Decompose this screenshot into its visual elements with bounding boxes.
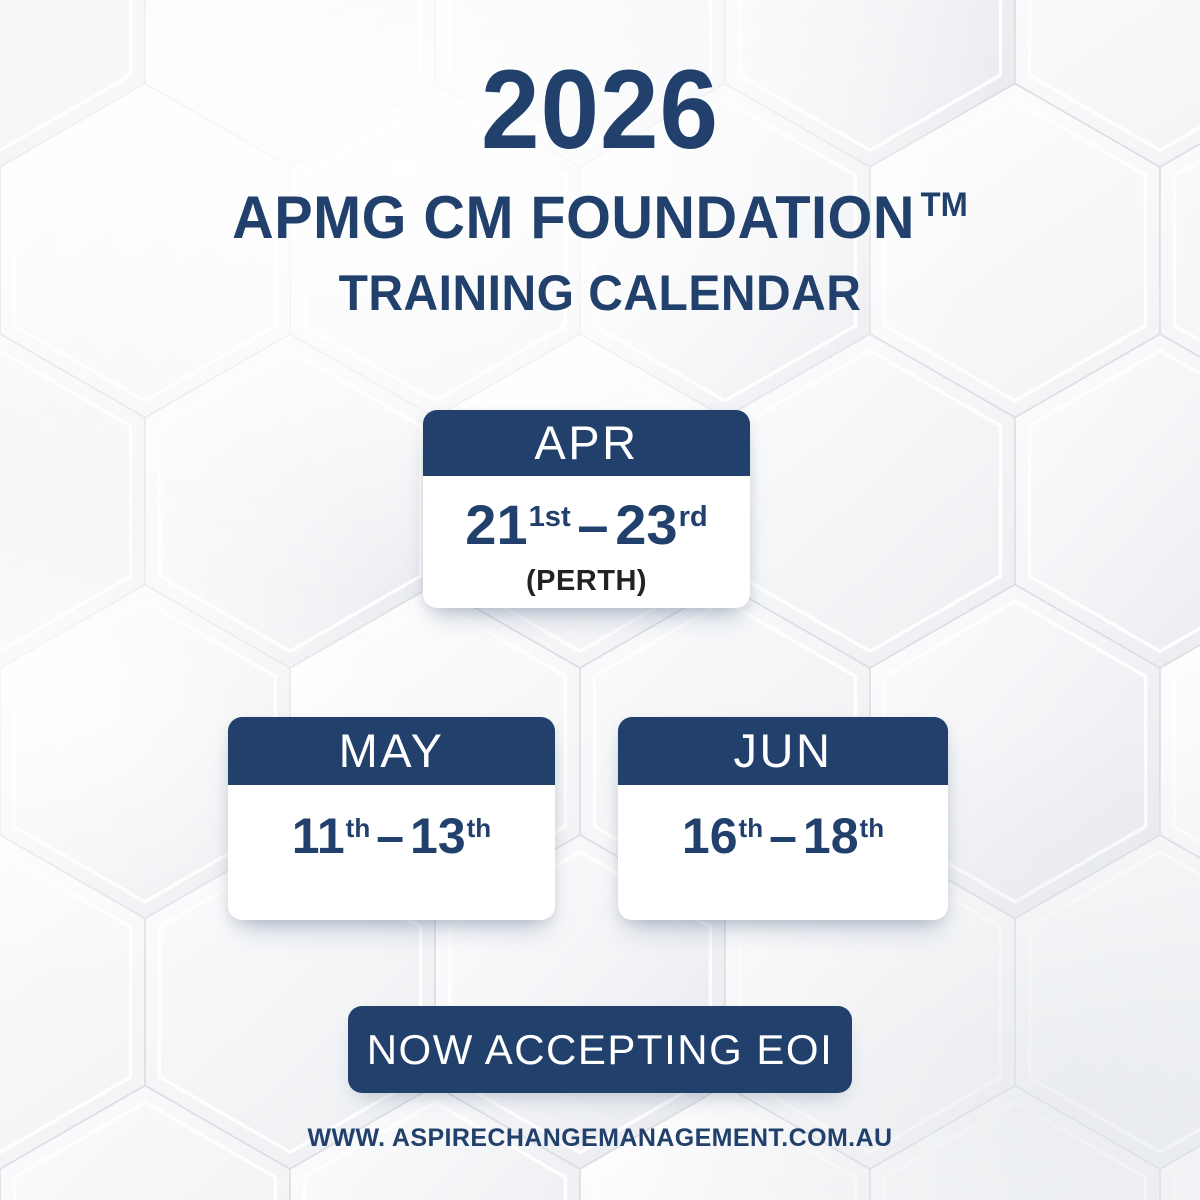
year-heading: 2026 bbox=[36, 54, 1164, 166]
range-dash: – bbox=[376, 808, 404, 864]
start-day: 16 bbox=[682, 808, 738, 864]
card-month-label: MAY bbox=[228, 717, 555, 785]
start-day: 11 bbox=[292, 808, 345, 864]
date-card-apr[interactable]: APR 211st–23rd (PERTH) bbox=[423, 410, 750, 608]
poster-header: 2026 APMG CM FOUNDATIONTM TRAINING CALEN… bbox=[0, 0, 1200, 318]
now-accepting-eoi-button[interactable]: NOW ACCEPTING EOI bbox=[348, 1006, 852, 1093]
poster-canvas: 2026 APMG CM FOUNDATIONTM TRAINING CALEN… bbox=[0, 0, 1200, 1200]
date-range: 16th–18th bbox=[618, 807, 948, 865]
end-day: 13 bbox=[410, 808, 466, 864]
range-dash: – bbox=[577, 493, 608, 556]
end-day: 18 bbox=[803, 808, 859, 864]
trademark-icon: TM bbox=[921, 186, 968, 224]
course-title-text: APMG CM FOUNDATION bbox=[232, 184, 915, 251]
end-day: 23 bbox=[615, 493, 677, 556]
date-range: 11th–13th bbox=[228, 807, 555, 865]
page-subtitle: TRAINING CALENDAR bbox=[24, 268, 1176, 318]
start-day-suffix: th bbox=[346, 813, 371, 843]
end-day-suffix: th bbox=[860, 813, 885, 843]
end-day-suffix: rd bbox=[679, 501, 708, 533]
start-day-suffix: 1st bbox=[529, 501, 571, 533]
card-body: 211st–23rd (PERTH) bbox=[423, 492, 750, 598]
range-dash: – bbox=[769, 808, 797, 864]
date-card-jun[interactable]: JUN 16th–18th bbox=[618, 717, 948, 920]
card-venue-label: (PERTH) bbox=[423, 565, 750, 598]
card-body: 16th–18th bbox=[618, 807, 948, 865]
start-day-suffix: th bbox=[739, 813, 764, 843]
end-day-suffix: th bbox=[467, 813, 492, 843]
date-card-may[interactable]: MAY 11th–13th bbox=[228, 717, 555, 920]
website-url[interactable]: WWW. ASPIRECHANGEMANAGEMENT.COM.AU bbox=[0, 1124, 1200, 1153]
start-day: 21 bbox=[465, 493, 527, 556]
card-month-label: JUN bbox=[618, 717, 948, 785]
card-body: 11th–13th bbox=[228, 807, 555, 865]
page-title: APMG CM FOUNDATIONTM bbox=[24, 188, 1176, 248]
card-month-label: APR bbox=[423, 410, 750, 476]
date-range: 211st–23rd bbox=[423, 492, 750, 557]
